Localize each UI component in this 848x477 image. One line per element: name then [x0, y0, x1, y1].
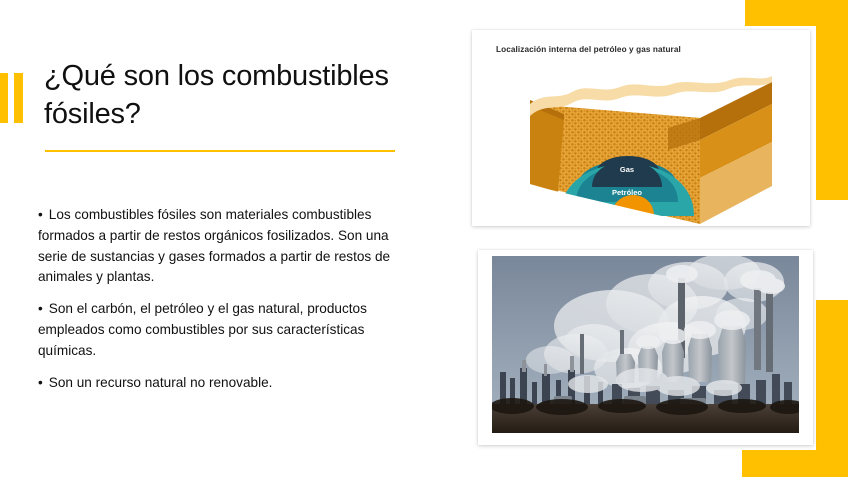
list-item: •Son un recurso natural no renovable.	[38, 373, 413, 394]
slide-root: ¿Qué son los combustibles fósiles? •Los …	[0, 0, 848, 477]
body-bullet-list: •Los combustibles fósiles son materiales…	[38, 205, 413, 404]
list-item: •Son el carbón, el petróleo y el gas nat…	[38, 299, 413, 361]
title-underline-rule	[45, 150, 395, 152]
title-tick-2	[14, 73, 23, 123]
diagram-card: Localización interna del petróleo y gas …	[472, 30, 810, 226]
accent-bar-top-right	[745, 0, 848, 26]
list-item-text: Son un recurso natural no renovable.	[49, 375, 273, 390]
diagram-title: Localización interna del petróleo y gas …	[496, 45, 681, 54]
title-tick-1	[0, 73, 8, 123]
page-title: ¿Qué son los combustibles fósiles?	[44, 57, 424, 134]
bullet-marker-icon: •	[38, 375, 43, 390]
industrial-plant-photo	[492, 256, 799, 433]
accent-bar-bottom-right	[742, 450, 848, 477]
diagram-label-agua: Agua	[585, 206, 605, 215]
bullet-marker-icon: •	[38, 301, 43, 316]
diagram-label-gas: Gas	[620, 165, 634, 174]
diagram-illustration: Gas Petróleo Agua	[472, 56, 810, 226]
diagram-label-petroleo: Petróleo	[612, 188, 642, 197]
list-item-text: Son el carbón, el petróleo y el gas natu…	[38, 301, 367, 358]
bullet-marker-icon: •	[38, 207, 43, 222]
photo-card	[478, 250, 813, 445]
accent-bar-right	[816, 0, 848, 200]
list-item-text: Los combustibles fósiles son materiales …	[38, 207, 390, 284]
title-accent-ticks	[0, 73, 26, 123]
list-item: •Los combustibles fósiles son materiales…	[38, 205, 413, 288]
